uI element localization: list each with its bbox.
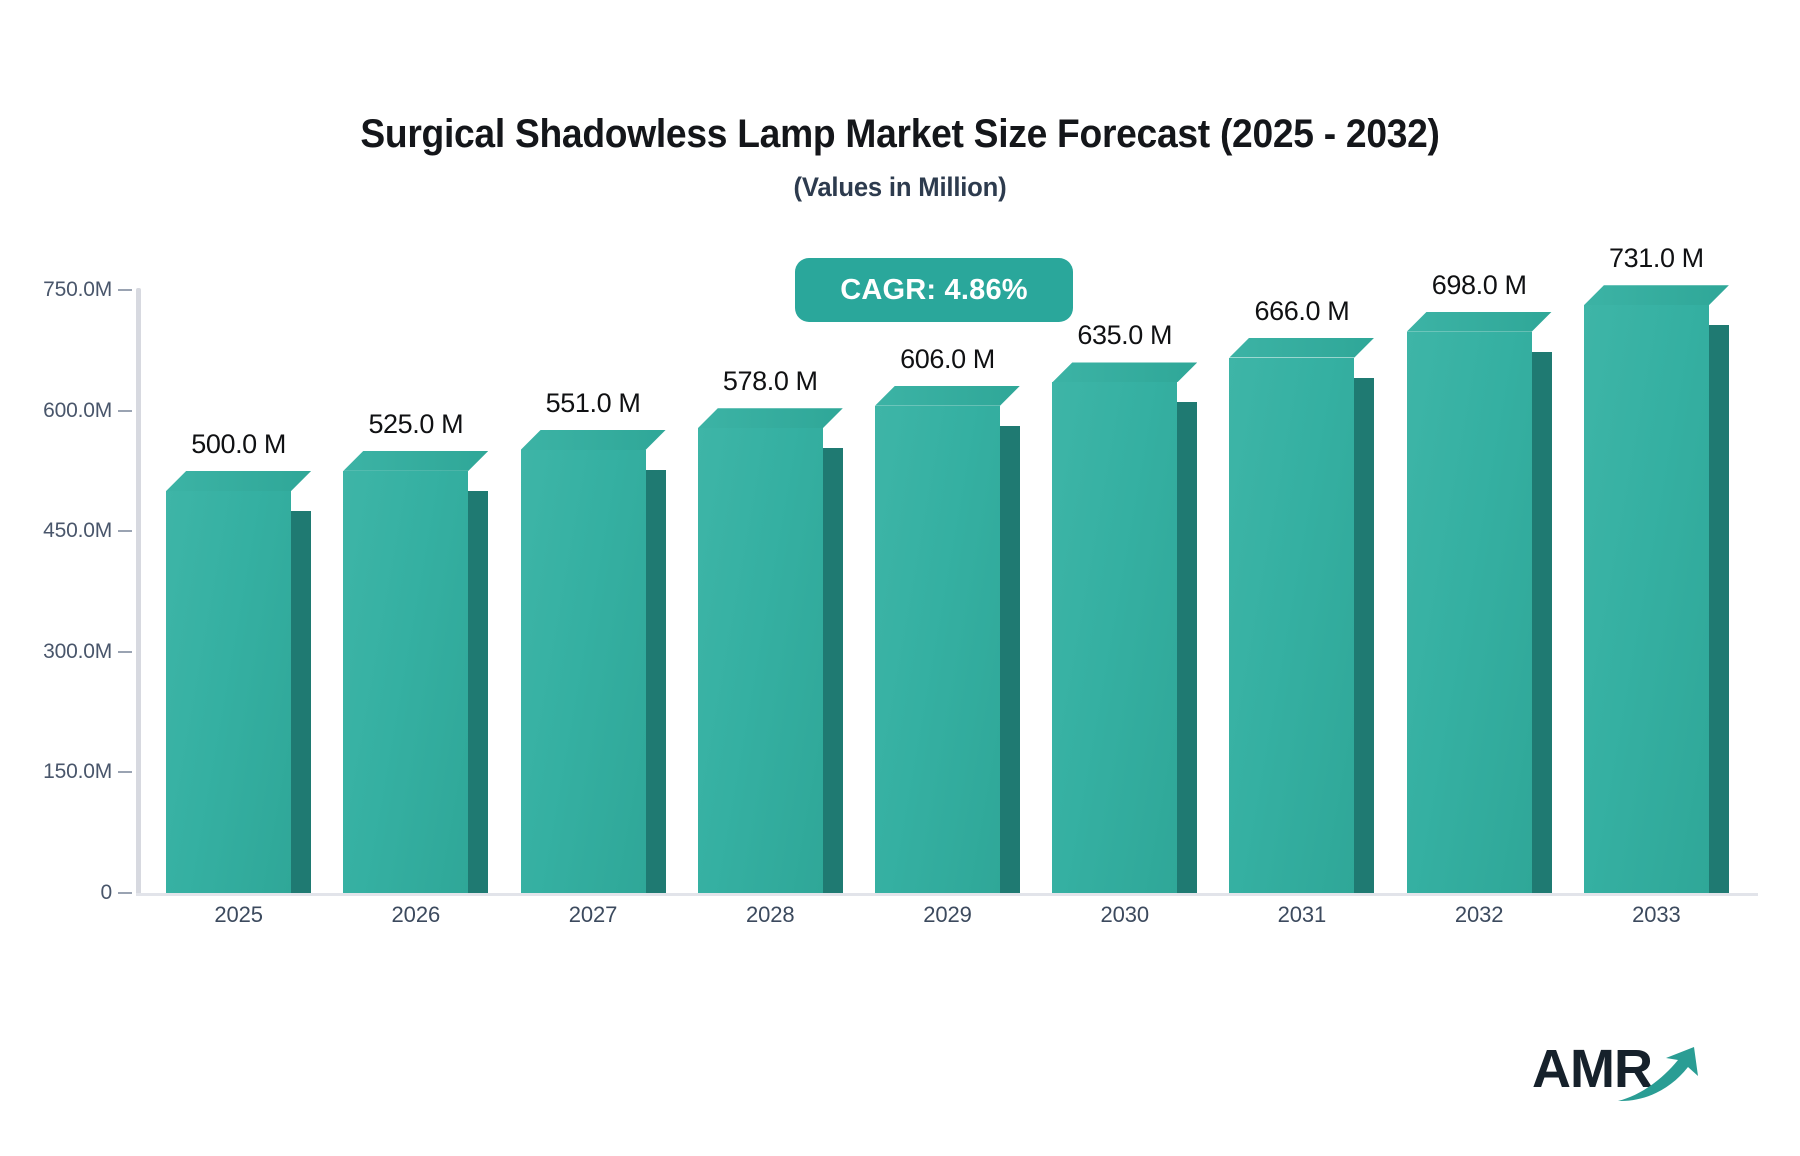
x-axis-tick-label: 2032	[1391, 902, 1568, 928]
bar-front-face	[1052, 382, 1177, 893]
chart-container: Surgical Shadowless Lamp Market Size For…	[0, 0, 1800, 1156]
bar-front-face	[875, 406, 1000, 893]
y-axis-tick-label: 300.0M	[0, 640, 112, 664]
bar-2027[interactable]	[521, 450, 646, 893]
x-axis-tick-label: 2030	[1036, 902, 1213, 928]
bar-top-face	[698, 408, 843, 428]
bar-value-label: 635.0 M	[1077, 320, 1172, 351]
bar-top-face	[521, 430, 666, 450]
y-axis-line	[136, 288, 141, 896]
bar-2025[interactable]	[166, 491, 291, 893]
bar-side-face	[1709, 325, 1729, 893]
bar-side-face	[1000, 426, 1020, 893]
bar-side-face	[1354, 378, 1374, 893]
x-axis-tick-label: 2029	[859, 902, 1036, 928]
x-axis-tick-label: 2031	[1213, 902, 1390, 928]
bar-top-face	[1229, 338, 1374, 358]
bar-front-face	[166, 491, 291, 893]
bar-value-label: 698.0 M	[1432, 270, 1527, 301]
y-axis-tick-mark	[118, 289, 132, 291]
bar-2026[interactable]	[343, 471, 468, 893]
bar-top-face	[1052, 362, 1197, 382]
x-axis-line	[136, 893, 1758, 896]
bar-front-face	[1407, 332, 1532, 893]
bar-2028[interactable]	[698, 428, 823, 893]
y-axis-tick-mark	[118, 771, 132, 773]
y-axis-tick-label: 450.0M	[0, 519, 112, 543]
bar-2033[interactable]	[1584, 305, 1709, 893]
bar-value-label: 666.0 M	[1255, 296, 1350, 327]
x-axis-tick-label: 2028	[682, 902, 859, 928]
bar-value-label: 578.0 M	[723, 366, 818, 397]
bar-side-face	[1532, 352, 1552, 893]
y-axis-tick-mark	[118, 651, 132, 653]
bar-front-face	[521, 450, 646, 893]
bar-side-face	[646, 470, 666, 893]
y-axis-tick-mark	[118, 892, 132, 894]
bar-value-label: 500.0 M	[191, 429, 286, 460]
bar-top-face	[1407, 312, 1552, 332]
x-axis-tick-label: 2025	[150, 902, 327, 928]
y-axis-tick-mark	[118, 530, 132, 532]
amr-logo: AMR	[1532, 1040, 1702, 1106]
bar-value-label: 551.0 M	[546, 388, 641, 419]
bar-front-face	[1584, 305, 1709, 893]
bar-front-face	[343, 471, 468, 893]
bar-top-face	[166, 471, 311, 491]
bar-2032[interactable]	[1407, 332, 1532, 893]
bar-value-label: 606.0 M	[900, 344, 995, 375]
growth-arrow-icon	[1616, 1044, 1702, 1106]
bar-side-face	[1177, 402, 1197, 893]
y-axis-tick-label: 750.0M	[0, 278, 112, 302]
bar-front-face	[698, 428, 823, 893]
y-axis-tick-label: 150.0M	[0, 760, 112, 784]
bar-top-face	[343, 451, 488, 471]
bar-top-face	[1584, 285, 1729, 305]
plot-area: 0150.0M300.0M450.0M600.0M750.0M 500.0 M5…	[0, 0, 1800, 1156]
x-axis-tick-label: 2033	[1568, 902, 1745, 928]
bar-2030[interactable]	[1052, 382, 1177, 893]
bar-value-label: 731.0 M	[1609, 243, 1704, 274]
bar-side-face	[468, 491, 488, 893]
bar-value-label: 525.0 M	[368, 409, 463, 440]
y-axis-tick-mark	[118, 410, 132, 412]
bar-2031[interactable]	[1229, 358, 1354, 893]
y-axis-tick-label: 600.0M	[0, 399, 112, 423]
bar-top-face	[875, 386, 1020, 406]
bar-2029[interactable]	[875, 406, 1000, 893]
bar-front-face	[1229, 358, 1354, 893]
x-axis-tick-label: 2026	[327, 902, 504, 928]
x-axis-tick-label: 2027	[504, 902, 681, 928]
y-axis-tick-label: 0	[0, 881, 112, 905]
bar-side-face	[291, 511, 311, 893]
bar-side-face	[823, 448, 843, 893]
